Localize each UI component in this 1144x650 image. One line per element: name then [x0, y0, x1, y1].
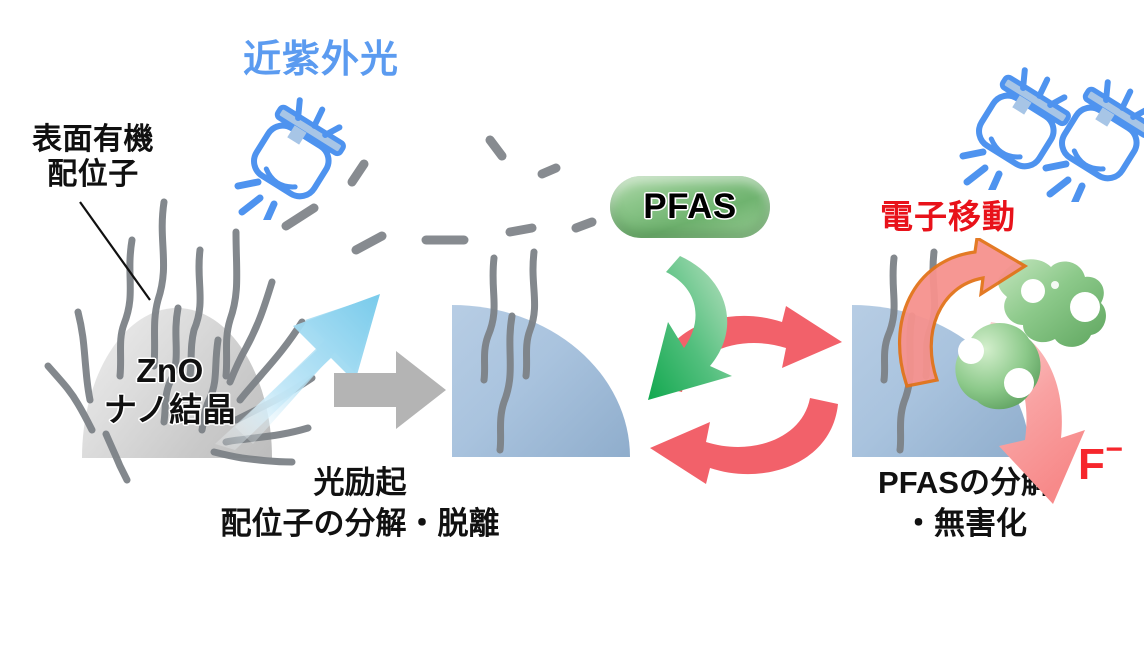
fluoride-charge: −	[1105, 433, 1123, 466]
transition-arrow-icon	[330, 345, 450, 435]
label-electron-transfer: 電子移動	[880, 198, 1016, 237]
pfas-adsorption-arrow-icon	[592, 250, 752, 410]
pfas-text: PFAS	[643, 187, 736, 227]
pfas-molecule-label: PFAS	[610, 176, 770, 238]
diagram-canvas: 表面有機 配位子	[0, 0, 1144, 650]
uv-lamp-icon	[1038, 72, 1144, 202]
uv-lamp-icon	[230, 90, 360, 220]
label-znO-nanocrystal: ZnO ナノ結晶	[70, 352, 270, 430]
electron-transfer-arrow-icon	[885, 238, 1065, 418]
label-near-uv-light: 近紫外光	[243, 38, 399, 83]
fluoride-symbol: F	[1078, 440, 1105, 489]
label-surface-organic-ligand: 表面有機 配位子	[8, 122, 178, 193]
leader-line	[78, 200, 188, 310]
label-fluoride-ion: F−	[1078, 432, 1123, 491]
